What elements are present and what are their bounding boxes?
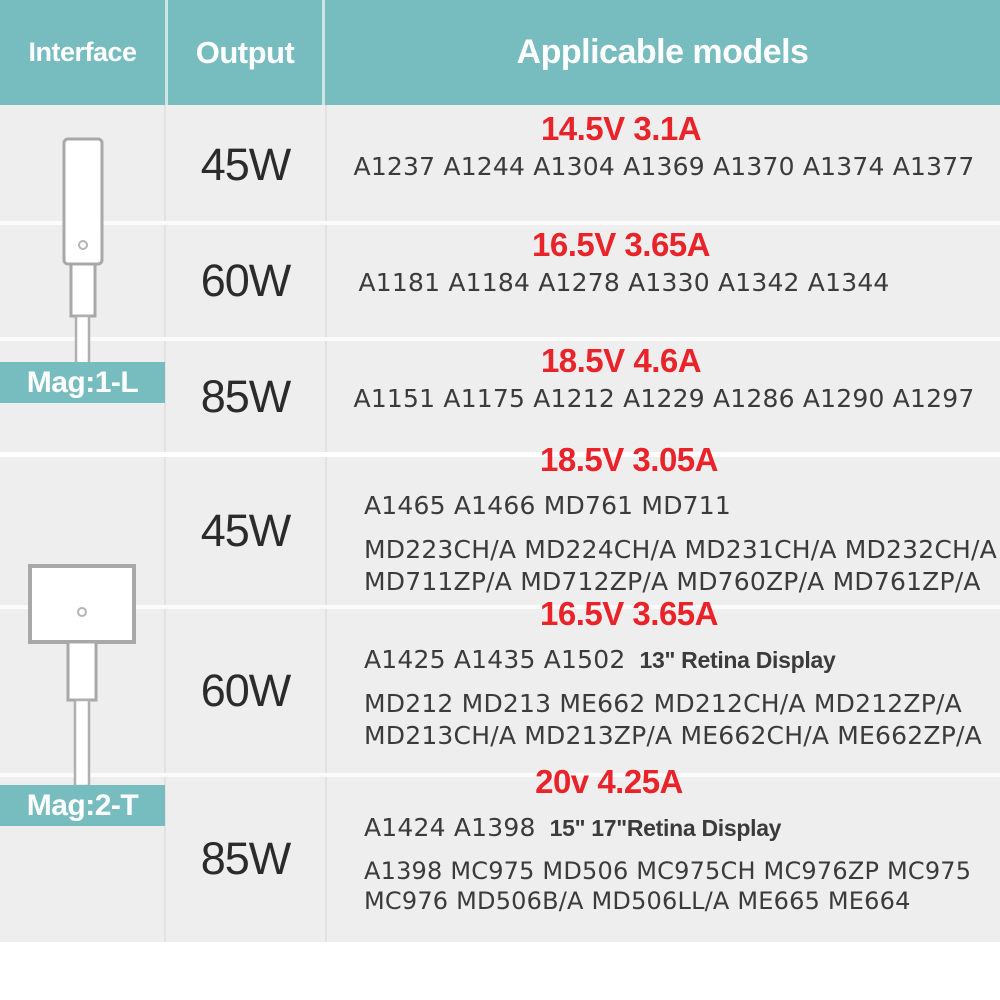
retina-note-row-6: 15" 17"Retina Display: [550, 815, 782, 841]
model-codes-row-6-line-1-text: A1424 A1398: [364, 813, 536, 842]
model-codes-row-5-line-1: A1425 A1435 A150213" Retina Display: [334, 644, 994, 676]
spec-label-row-2: 16.5V 3.65A: [334, 228, 994, 263]
column-header-applicable-models: Applicable models: [325, 0, 1000, 105]
spec-label-row-6: 20v 4.25A: [334, 765, 994, 800]
models-cell-row-3: 18.5V 4.6A A1151 A1175 A1212 A1229 A1286…: [328, 344, 1000, 415]
interface-badge-mag1l: Mag:1-L: [0, 362, 165, 403]
spec-label-row-1: 14.5V 3.1A: [334, 112, 994, 147]
compatibility-table-page: Interface Output Applicable models Mag:1…: [0, 0, 1000, 1000]
magsafe-1-l-connector-icon: [0, 135, 164, 365]
output-cell-row-2: 60W: [167, 226, 324, 336]
spacer: [334, 522, 994, 534]
model-codes-row-6-line-3: MC976 MD506B/A MD506LL/A ME665 ME664: [334, 886, 994, 917]
model-codes-row-4-line-2: MD223CH/A MD224CH/A MD231CH/A MD232CH/A: [334, 534, 994, 566]
model-codes-row-1-line-1: A1237 A1244 A1304 A1369 A1370 A1374 A137…: [334, 151, 994, 183]
spec-label-row-3: 18.5V 4.6A: [334, 344, 994, 379]
column-divider-output-models: [325, 105, 327, 942]
model-codes-row-6-line-2: A1398 MC975 MD506 MC975CH MC976ZP MC975: [334, 856, 994, 887]
models-cell-row-1: 14.5V 3.1A A1237 A1244 A1304 A1369 A1370…: [328, 112, 1000, 183]
output-cell-row-6: 85W: [167, 778, 324, 940]
models-cell-row-5: 16.5V 3.65A A1425 A1435 A150213" Retina …: [328, 597, 1000, 752]
spacer: [334, 676, 994, 688]
retina-note-row-5: 13" Retina Display: [639, 647, 835, 673]
model-codes-row-5-line-2: MD212 MD213 ME662 MD212CH/A MD212ZP/A: [334, 688, 994, 720]
models-cell-row-6: 20v 4.25A A1424 A139815" 17"Retina Displ…: [328, 765, 1000, 917]
model-codes-row-4-line-1: A1465 A1466 MD761 MD711: [334, 490, 994, 522]
model-codes-row-6-line-1: A1424 A139815" 17"Retina Display: [334, 812, 994, 844]
spec-label-row-5: 16.5V 3.65A: [334, 597, 994, 632]
model-codes-row-5-line-3: MD213CH/A MD213ZP/A ME662CH/A ME662ZP/A: [334, 720, 994, 752]
spacer: [334, 844, 994, 856]
magsafe-2-t-connector-icon: [0, 562, 164, 787]
models-cell-row-2: 16.5V 3.65A A1181 A1184 A1278 A1330 A134…: [328, 228, 1000, 299]
output-cell-row-4: 45W: [167, 458, 324, 604]
output-cell-row-1: 45W: [167, 110, 324, 220]
output-cell-row-5: 60W: [167, 610, 324, 772]
spec-label-row-4: 18.5V 3.05A: [334, 443, 994, 478]
table-header-row: Interface Output Applicable models: [0, 0, 1000, 105]
model-codes-row-2-line-1: A1181 A1184 A1278 A1330 A1342 A1344: [334, 267, 994, 299]
column-header-interface: Interface: [0, 0, 165, 105]
output-cell-row-3: 85W: [167, 342, 324, 452]
model-codes-row-4-line-3: MD711ZP/A MD712ZP/A MD760ZP/A MD761ZP/A: [334, 566, 994, 598]
model-codes-row-5-line-1-text: A1425 A1435 A1502: [364, 645, 625, 674]
models-cell-row-4: 18.5V 3.05A A1465 A1466 MD761 MD711 MD22…: [328, 443, 1000, 598]
interface-badge-mag2t: Mag:2-T: [0, 785, 165, 826]
adapter-compatibility-table: Interface Output Applicable models Mag:1…: [0, 0, 1000, 942]
column-header-output: Output: [165, 0, 325, 105]
model-codes-row-3-line-1: A1151 A1175 A1212 A1229 A1286 A1290 A129…: [334, 383, 994, 415]
